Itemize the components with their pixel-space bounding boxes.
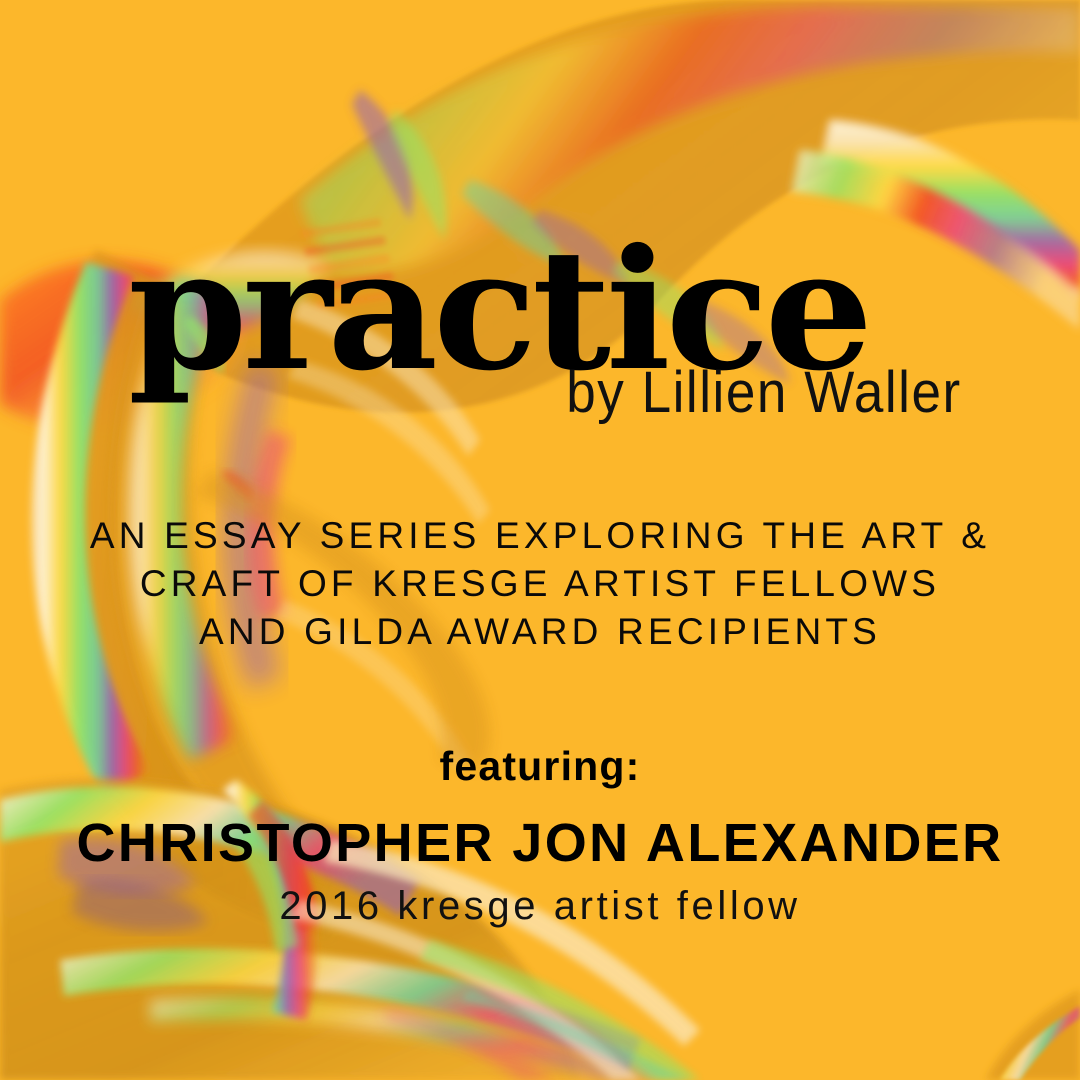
featuring-label: featuring: [0,743,1080,790]
series-description: AN ESSAY SERIES EXPLORING THE ART & CRAF… [0,512,1080,656]
poster-copy: practice by Lillien Waller AN ESSAY SERI… [0,0,1080,1080]
author-byline: by Lillien Waller [567,364,962,422]
series-description-line-1: AN ESSAY SERIES EXPLORING THE ART & [0,512,1080,560]
featured-artist-name: CHRISTOPHER JON ALEXANDER [0,812,1080,874]
featured-artist-award: 2016 kresge artist fellow [0,884,1080,929]
series-description-line-3: AND GILDA AWARD RECIPIENTS [0,608,1080,656]
practice-essay-series-poster: practice by Lillien Waller AN ESSAY SERI… [0,0,1080,1080]
series-description-line-2: CRAFT OF KRESGE ARTIST FELLOWS [0,560,1080,608]
